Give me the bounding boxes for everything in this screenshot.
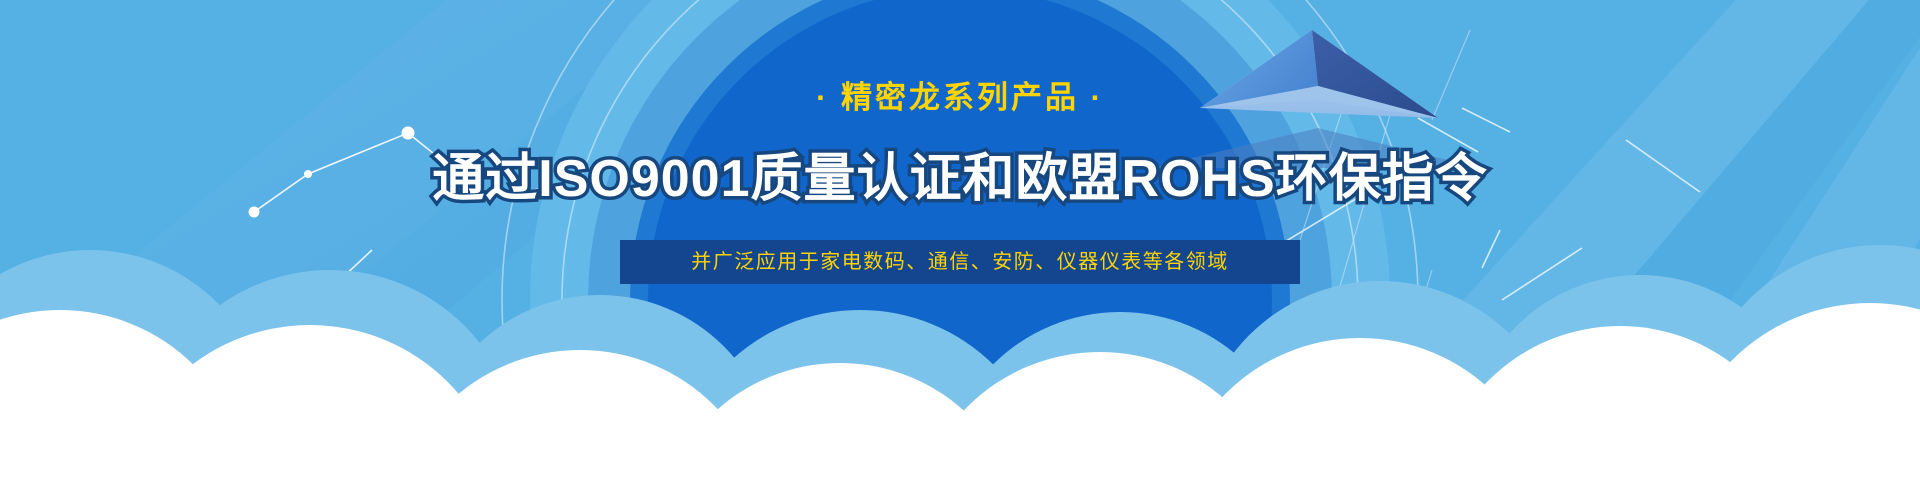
banner-headline: 通过ISO9001质量认证和欧盟ROHS环保指令 (0, 148, 1920, 210)
promo-banner: · 精密龙系列产品 · 通过ISO9001质量认证和欧盟ROHS环保指令 并广泛… (0, 0, 1920, 480)
banner-subtitle: 并广泛应用于家电数码、通信、安防、仪器仪表等各领域 (691, 240, 1229, 284)
banner-eyebrow: · 精密龙系列产品 · (0, 78, 1920, 118)
banner-subtitle-bar: 并广泛应用于家电数码、通信、安防、仪器仪表等各领域 (620, 240, 1300, 284)
